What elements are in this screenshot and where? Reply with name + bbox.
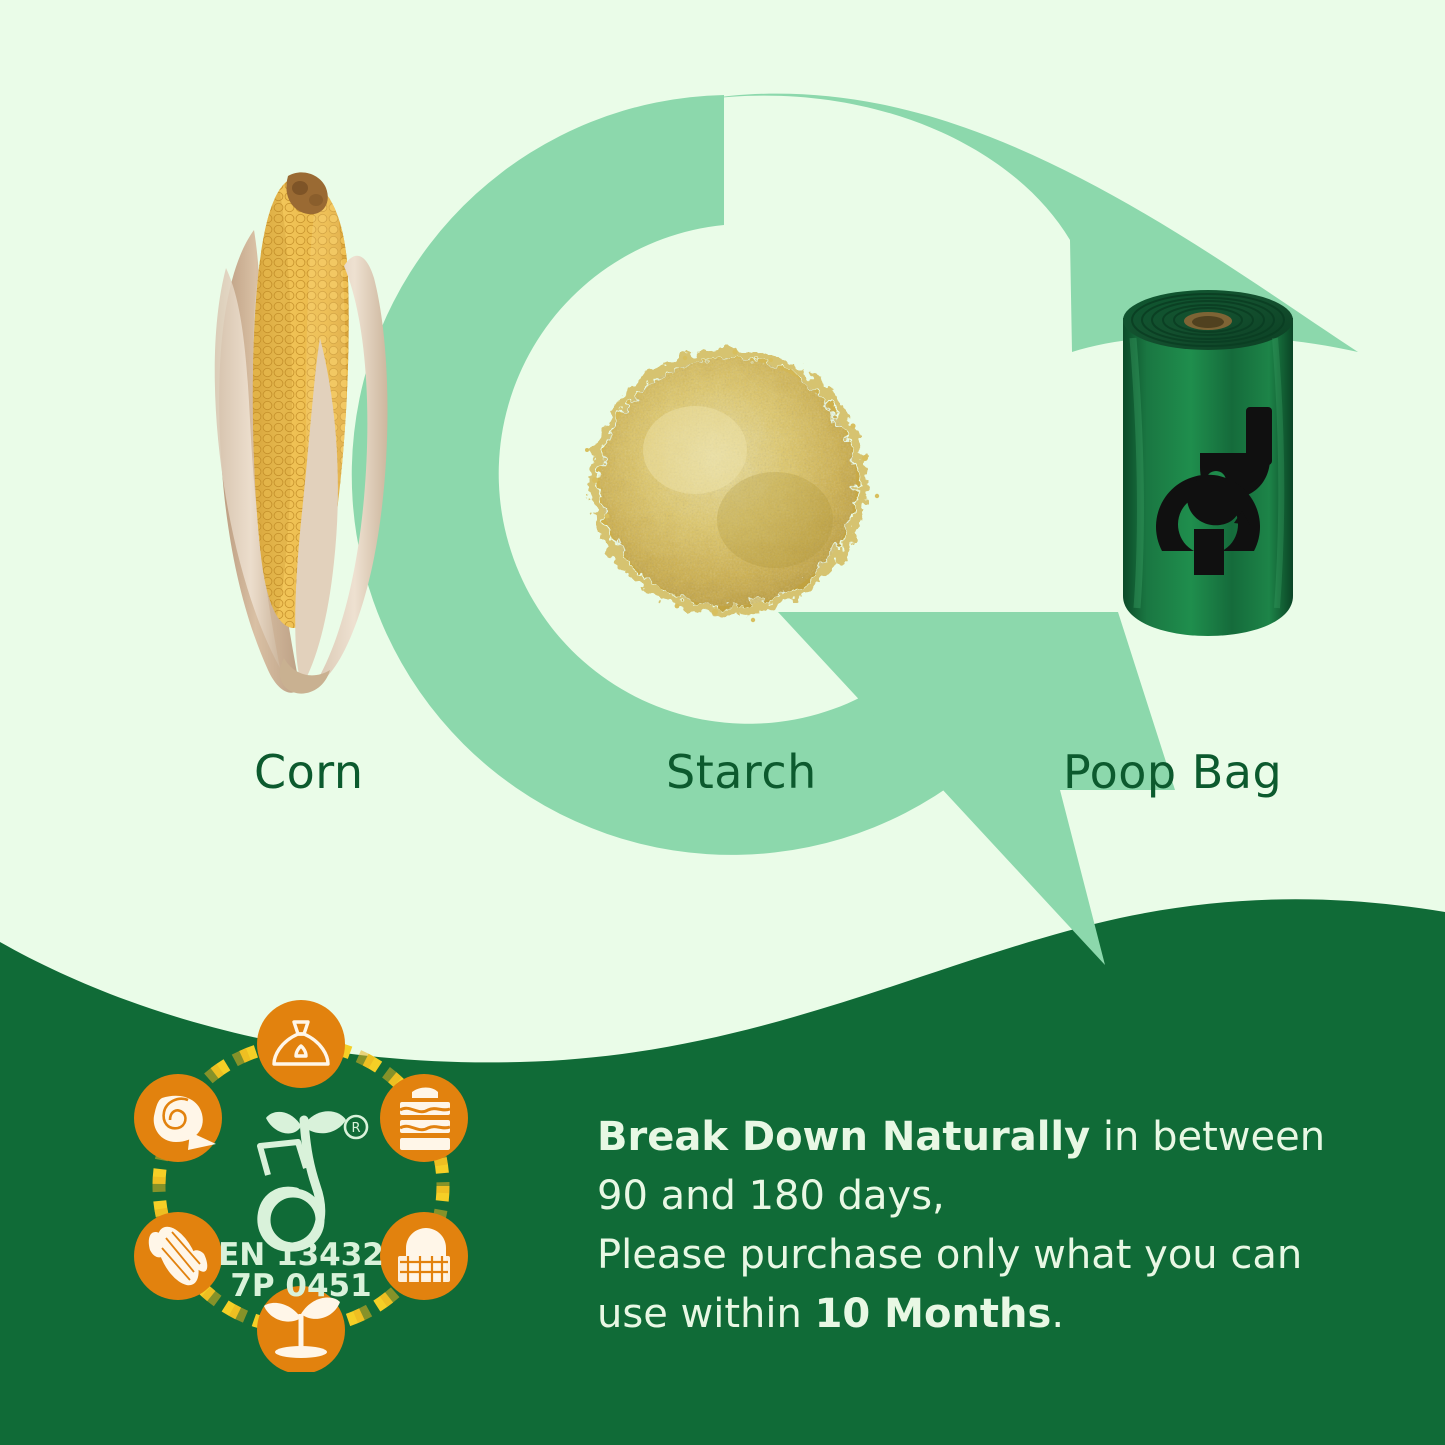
infographic-canvas: Corn Starch Poop Bag [0, 0, 1445, 1445]
claim-line4-pre: use within [597, 1291, 815, 1337]
registered-trademark-icon: R [345, 1116, 367, 1138]
claim-line-4: use within 10 Months. [597, 1285, 1377, 1344]
claim-line4-post: . [1051, 1291, 1064, 1337]
caption-starch: Starch [666, 745, 817, 799]
claim-bold-months: 10 Months [815, 1291, 1052, 1337]
compostable-certification-badge: R EN 13432 7P 0451 [120, 1000, 482, 1372]
claim-line-1: Break Down Naturally in between [597, 1108, 1377, 1167]
certification-standard-line2: 7P 0451 [230, 1268, 371, 1304]
corn-cob-image [196, 158, 411, 703]
caption-poop-bag: Poop Bag [1063, 745, 1282, 799]
corn-starch-image [565, 330, 895, 630]
seedling-compostable-logo: R [260, 1111, 367, 1247]
poop-bag-roll-image [1107, 278, 1309, 646]
claim-line1-rest: in between [1090, 1114, 1325, 1160]
claim-line-3: Please purchase only what you can [597, 1226, 1377, 1285]
soil-layers-icon [380, 1074, 468, 1162]
claim-line-2: 90 and 180 days, [597, 1167, 1377, 1226]
breakdown-claim-text: Break Down Naturally in between 90 and 1… [597, 1108, 1377, 1344]
svg-text:R: R [351, 1121, 360, 1136]
caption-corn: Corn [254, 745, 364, 799]
compost-bin-icon [380, 1212, 468, 1300]
claim-bold-breakdown: Break Down Naturally [597, 1114, 1090, 1160]
waste-bag-icon [257, 1000, 345, 1088]
corn-cob-icon [134, 1212, 222, 1300]
bag-roll-icon [134, 1074, 222, 1162]
